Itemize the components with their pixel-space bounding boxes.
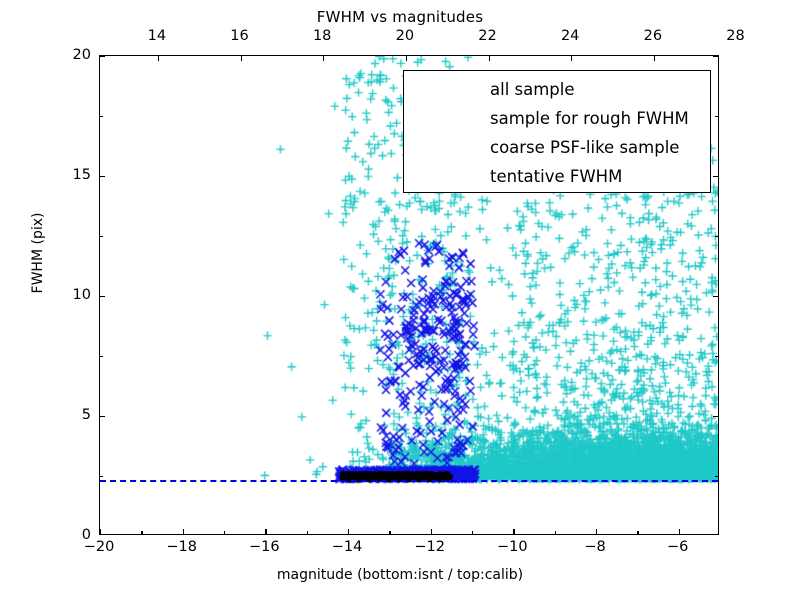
axis-tick	[100, 356, 103, 357]
axis-tick-label: −6	[667, 539, 688, 555]
legend-key-group	[410, 75, 486, 104]
axis-tick-label: 18	[313, 28, 331, 44]
axis-tick-label: 20	[396, 28, 414, 44]
axis-tick-label: 16	[230, 28, 248, 44]
axis-tick	[348, 529, 349, 534]
axis-tick	[100, 476, 103, 477]
axis-tick	[596, 529, 597, 534]
axis-tick	[307, 531, 308, 534]
axis-tick	[100, 529, 101, 534]
x-axis-label: magnitude (bottom:isnt / top:calib)	[0, 567, 800, 583]
axis-tick	[472, 531, 473, 534]
legend-key-group	[410, 162, 486, 191]
axis-tick	[715, 116, 718, 117]
axis-tick-label: 20	[73, 47, 91, 63]
axis-tick-label: 22	[478, 28, 496, 44]
axis-tick-label: −18	[166, 539, 197, 555]
y-axis-label: FWHM (pix)	[30, 153, 46, 353]
legend-key-group	[410, 104, 486, 133]
axis-tick	[571, 56, 572, 59]
axis-tick-label: −12	[414, 539, 445, 555]
axis-tick	[141, 531, 142, 534]
legend-key-group	[410, 133, 486, 162]
axis-tick	[637, 531, 638, 534]
axis-tick	[489, 56, 490, 59]
axis-tick	[100, 176, 105, 177]
axis-tick	[100, 236, 103, 237]
axis-tick	[654, 56, 655, 59]
axis-tick	[555, 531, 556, 534]
legend-label: coarse PSF-like sample	[486, 138, 679, 157]
axis-tick	[679, 529, 680, 534]
axis-tick	[713, 56, 718, 57]
axis-tick	[100, 416, 105, 417]
axis-tick-label: 15	[73, 167, 91, 183]
legend-label: all sample	[486, 80, 575, 99]
axis-tick	[713, 416, 718, 417]
legend-label: sample for rough FWHM	[486, 109, 689, 128]
legend-item-coarse-psf-like-sample: coarse PSF-like sample	[410, 133, 702, 162]
axis-tick-label: −14	[332, 539, 363, 555]
axis-tick-label: 5	[82, 407, 91, 423]
axis-tick	[323, 56, 324, 59]
tentative-fwhm-line	[100, 480, 718, 482]
axis-tick-label: 0	[82, 527, 91, 543]
legend-box: all sample sample for rough FWHM coarse …	[403, 70, 711, 193]
legend-item-sample-for-rough-fwhm: sample for rough FWHM	[410, 104, 702, 133]
axis-tick-label: 10	[73, 287, 91, 303]
axis-tick	[224, 531, 225, 534]
axis-tick	[100, 56, 105, 57]
legend-label: tentative FWHM	[486, 167, 622, 186]
axis-tick	[100, 116, 103, 117]
legend-item-tentative-fwhm: tentative FWHM	[410, 162, 702, 191]
axis-tick-label: 26	[644, 28, 662, 44]
axis-tick-label: −16	[249, 539, 280, 555]
axis-tick	[100, 296, 105, 297]
axis-tick	[715, 476, 718, 477]
legend-item-all-sample: all sample	[410, 75, 702, 104]
axis-tick	[406, 56, 407, 59]
axis-tick-label: 28	[726, 28, 744, 44]
axis-tick-label: −8	[584, 539, 605, 555]
axis-tick-label: 14	[148, 28, 166, 44]
axis-tick	[431, 529, 432, 534]
axis-tick	[265, 529, 266, 534]
axis-tick	[713, 296, 718, 297]
axis-tick	[183, 529, 184, 534]
axis-tick	[715, 236, 718, 237]
axis-tick	[389, 531, 390, 534]
axis-tick	[715, 356, 718, 357]
axis-tick	[158, 56, 159, 59]
page-title: FWHM vs magnitudes	[0, 8, 800, 26]
axis-tick	[713, 176, 718, 177]
axis-tick	[513, 529, 514, 534]
axis-tick-label: −10	[497, 539, 528, 555]
axis-tick	[241, 56, 242, 59]
figure-canvas: FWHM vs magnitudes FWHM (pix) magnitude …	[0, 0, 800, 600]
axis-tick-label: 24	[561, 28, 579, 44]
